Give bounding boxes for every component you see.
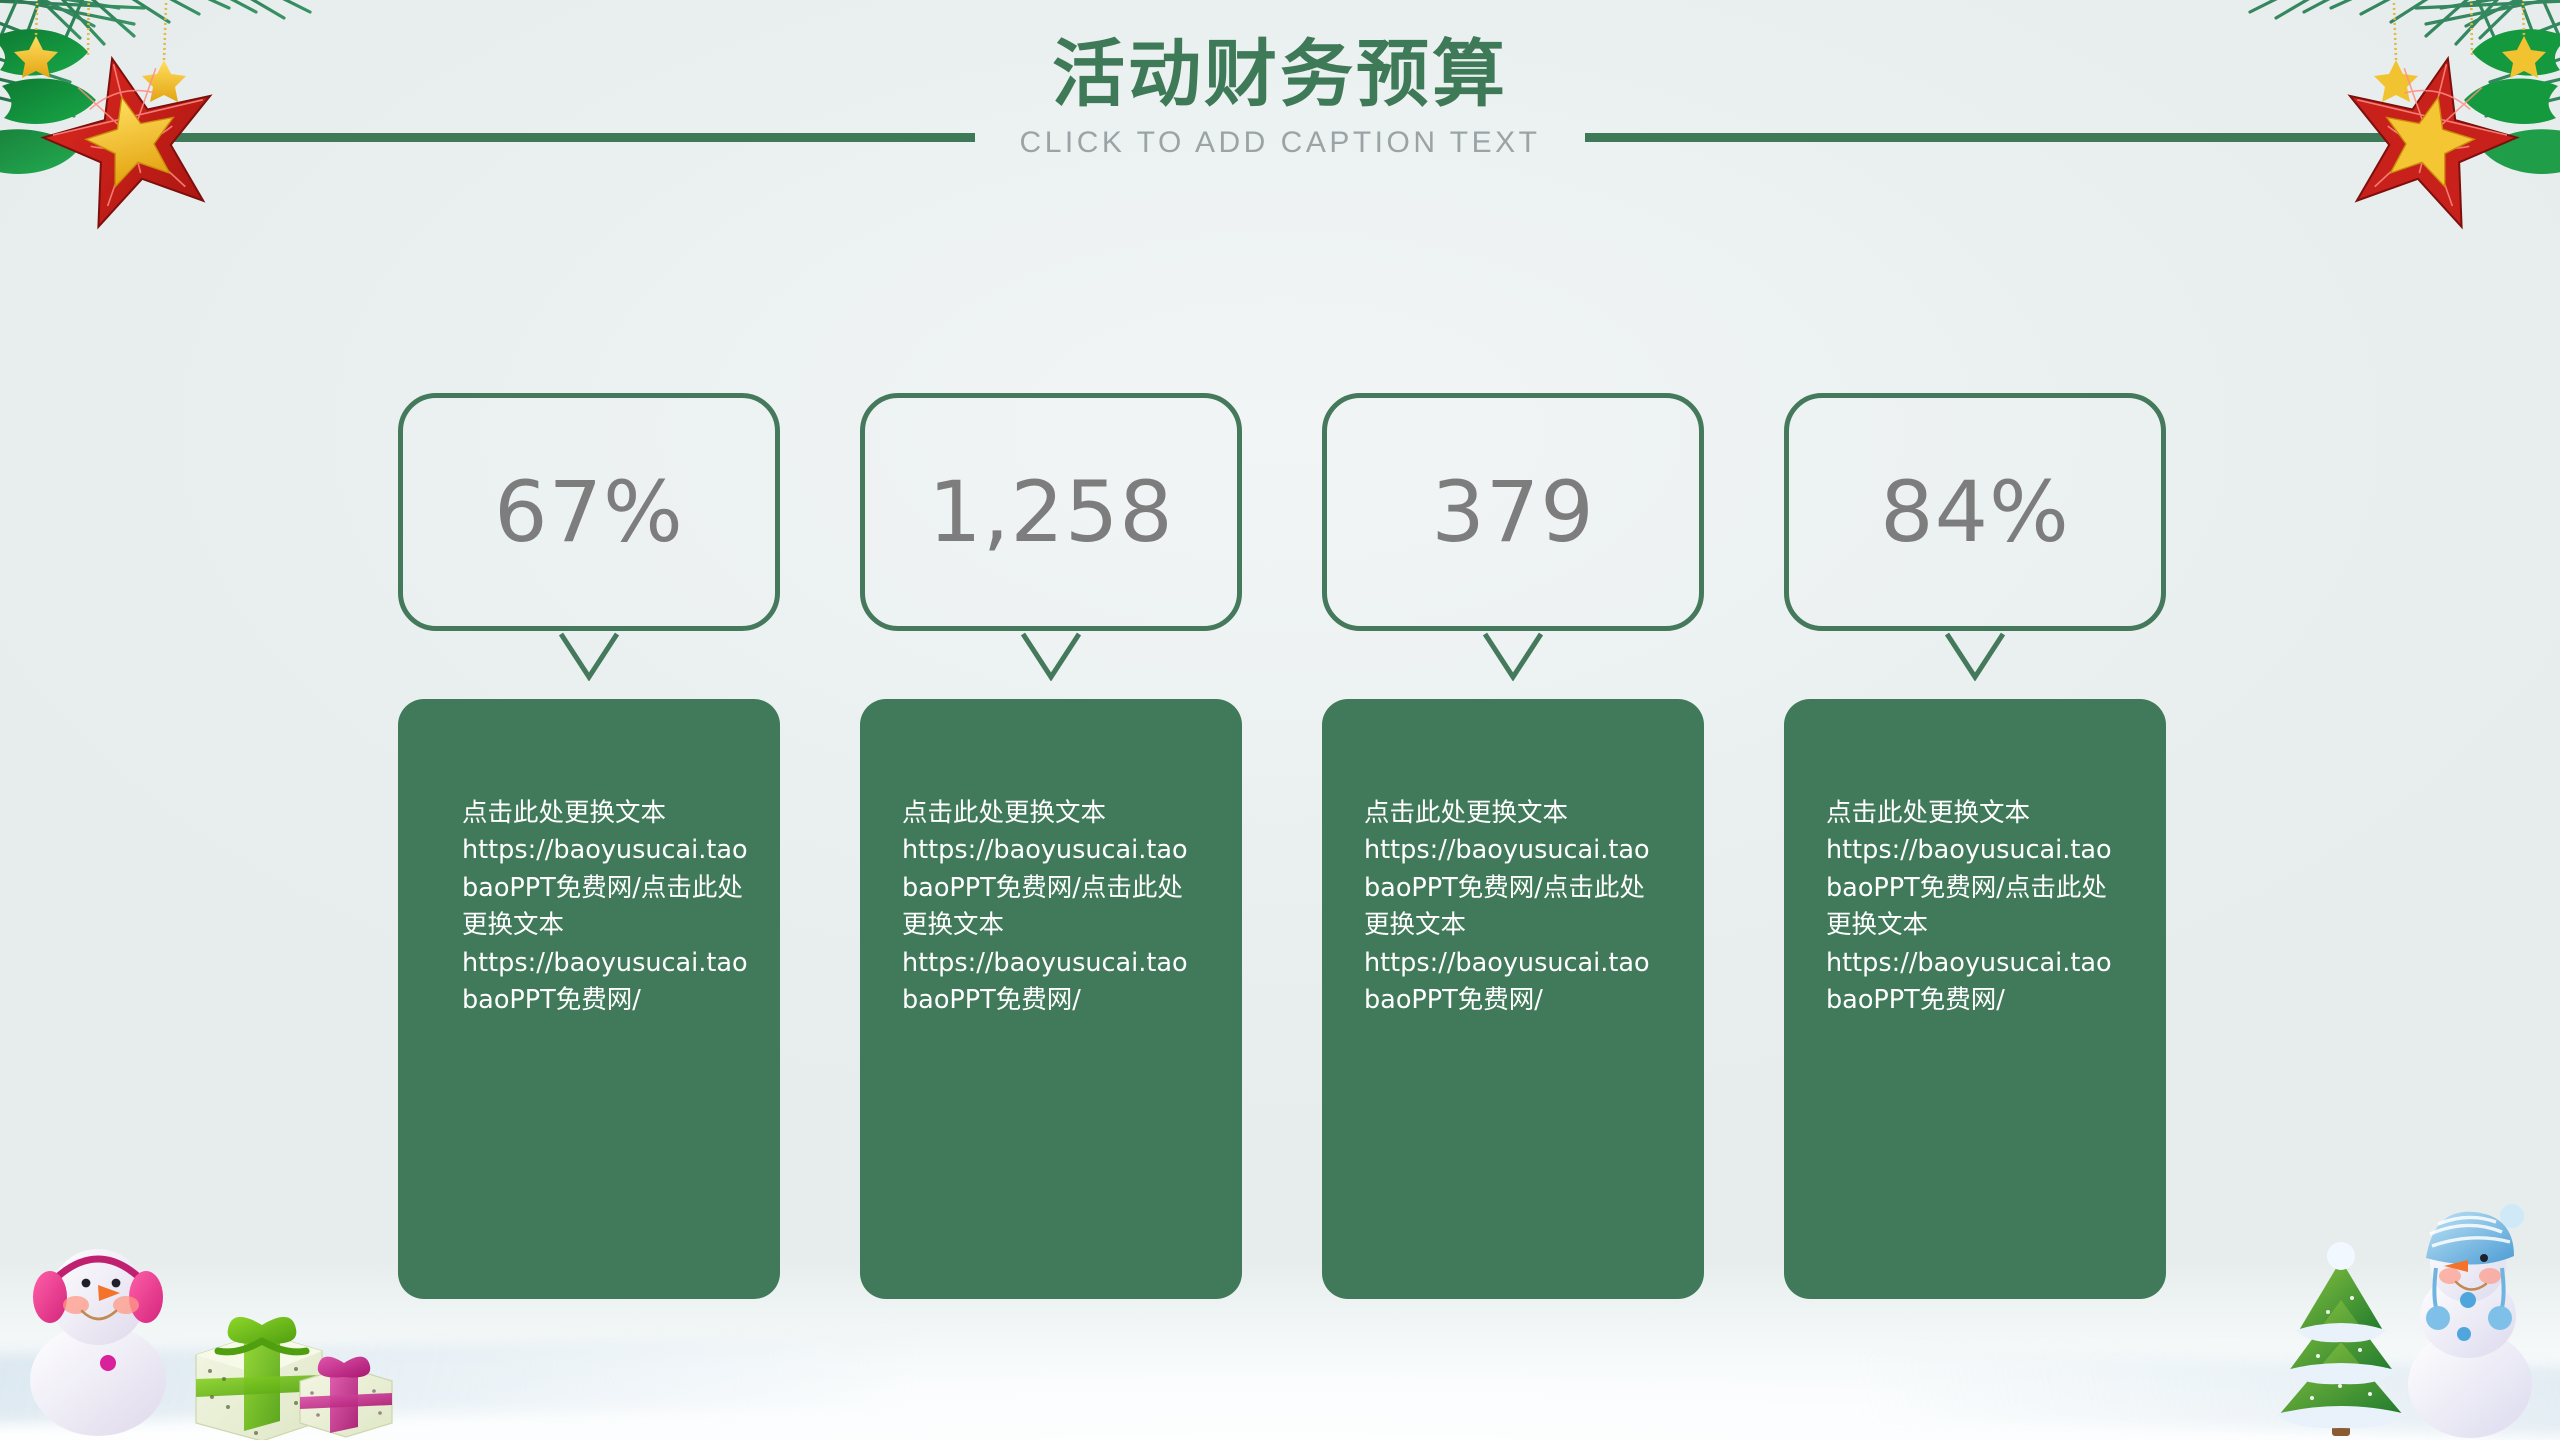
stat-column: 379 点击此处更换文本https://baoyusucai.taobaoPPT… bbox=[1322, 393, 1704, 1299]
description-panel[interactable]: 点击此处更换文本https://baoyusucai.taobaoPPT免费网/… bbox=[1784, 699, 2166, 1299]
stats-row: 67% 点击此处更换文本https://baoyusucai.taobaoPPT… bbox=[398, 393, 2166, 1299]
description-text: 点击此处更换文本https://baoyusucai.taobaoPPT免费网/… bbox=[462, 795, 758, 1020]
value-callout[interactable]: 84% bbox=[1784, 393, 2166, 631]
callout-tail-icon bbox=[1019, 631, 1083, 681]
value-callout[interactable]: 1,258 bbox=[860, 393, 1242, 631]
value-callout[interactable]: 379 bbox=[1322, 393, 1704, 631]
description-text: 点击此处更换文本https://baoyusucai.taobaoPPT免费网/… bbox=[1826, 795, 2124, 1020]
page-title: 活动财务预算 bbox=[0, 34, 2560, 116]
stat-column: 67% 点击此处更换文本https://baoyusucai.taobaoPPT… bbox=[398, 393, 780, 1299]
callout-tail-icon bbox=[1481, 631, 1545, 681]
stat-column: 84% 点击此处更换文本https://baoyusucai.taobaoPPT… bbox=[1784, 393, 2166, 1299]
description-panel[interactable]: 点击此处更换文本https://baoyusucai.taobaoPPT免费网/… bbox=[860, 699, 1242, 1299]
description-panel[interactable]: 点击此处更换文本https://baoyusucai.taobaoPPT免费网/… bbox=[1322, 699, 1704, 1299]
callout-tail-icon bbox=[557, 631, 621, 681]
stat-value: 84% bbox=[1880, 463, 2070, 561]
value-callout[interactable]: 67% bbox=[398, 393, 780, 631]
header: 活动财务预算 CLICK TO ADD CAPTION TEXT bbox=[0, 34, 2560, 160]
stat-value: 67% bbox=[494, 463, 684, 561]
stat-value: 1,258 bbox=[928, 463, 1173, 561]
callout-tail-icon bbox=[1943, 631, 2007, 681]
slide-canvas: 活动财务预算 CLICK TO ADD CAPTION TEXT 67% 点击此… bbox=[0, 0, 2560, 1440]
description-text: 点击此处更换文本https://baoyusucai.taobaoPPT免费网/… bbox=[902, 795, 1200, 1020]
stat-column: 1,258 点击此处更换文本https://baoyusucai.taobaoP… bbox=[860, 393, 1242, 1299]
description-text: 点击此处更换文本https://baoyusucai.taobaoPPT免费网/… bbox=[1364, 795, 1662, 1020]
stat-value: 379 bbox=[1431, 463, 1594, 561]
page-subtitle: CLICK TO ADD CAPTION TEXT bbox=[0, 126, 2560, 160]
description-panel[interactable]: 点击此处更换文本https://baoyusucai.taobaoPPT免费网/… bbox=[398, 699, 780, 1299]
